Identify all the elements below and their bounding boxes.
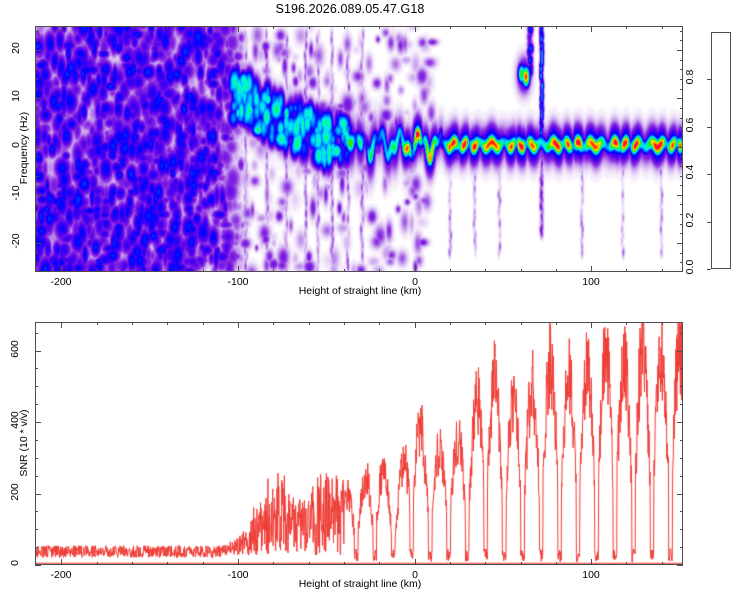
axis-tick: [35, 494, 41, 495]
axis-tick: [203, 269, 204, 272]
axis-tick: [677, 98, 683, 99]
axis-tick: [677, 565, 683, 566]
axis-tick: [680, 185, 683, 186]
axis-tick: [556, 562, 557, 565]
axis-tick: [61, 559, 62, 565]
axis-tick: [35, 127, 38, 128]
axis-tick: [35, 195, 41, 196]
colorbar: [711, 32, 731, 269]
axis-tick: [662, 562, 663, 565]
axis-tick: [485, 322, 486, 325]
axis-tick: [35, 440, 38, 441]
axis-tick: [680, 40, 683, 41]
axis-tick: [35, 233, 38, 234]
axis-tick: [680, 404, 683, 405]
axis-tick: [35, 118, 38, 119]
axis-tick: [132, 269, 133, 272]
axis-tick: [521, 269, 522, 272]
axis-tick: [203, 322, 204, 325]
page-title: S196.2026.089.05.47.G18: [0, 2, 700, 16]
axis-tick: [626, 562, 627, 565]
axis-tick: [35, 224, 38, 225]
axis-tick: [662, 322, 663, 325]
figure-root: S196.2026.089.05.47.G18 Frequency (Hz) H…: [0, 0, 750, 600]
axis-tick: [680, 333, 683, 334]
spectrogram-image: [36, 27, 682, 271]
axis-tick: [132, 562, 133, 565]
axis-tick: [35, 214, 38, 215]
axis-tick: [415, 26, 416, 32]
axis-tick: [680, 108, 683, 109]
axis-tick: [680, 458, 683, 459]
axis-tick: [309, 269, 310, 272]
axis-tick: [680, 253, 683, 254]
axis-tick: [97, 26, 98, 29]
axis-tick: [485, 26, 486, 29]
axis-tick-label: 600: [9, 335, 21, 363]
axis-tick-label: 20: [10, 35, 22, 61]
axis-tick-label: 0: [393, 276, 437, 288]
axis-tick: [485, 562, 486, 565]
axis-tick: [35, 565, 41, 566]
axis-tick: [415, 266, 416, 272]
axis-tick: [61, 266, 62, 272]
axis-tick: [707, 127, 711, 128]
axis-tick: [35, 458, 38, 459]
axis-tick: [680, 440, 683, 441]
axis-tick: [521, 562, 522, 565]
axis-tick: [35, 98, 41, 99]
axis-tick: [35, 166, 38, 167]
axis-tick-label: 0.2: [684, 205, 696, 235]
axis-tick: [677, 494, 683, 495]
axis-tick: [680, 79, 683, 80]
axis-tick: [35, 69, 38, 70]
axis-tick: [680, 224, 683, 225]
axis-tick: [450, 269, 451, 272]
axis-tick: [35, 79, 38, 80]
axis-tick: [415, 322, 416, 328]
axis-tick: [680, 118, 683, 119]
axis-tick-label: 10: [10, 83, 22, 109]
axis-tick: [344, 322, 345, 325]
axis-tick: [273, 269, 274, 272]
axis-tick: [203, 26, 204, 29]
axis-tick: [521, 26, 522, 29]
axis-tick: [680, 547, 683, 548]
axis-tick: [35, 204, 38, 205]
axis-tick: [680, 60, 683, 61]
axis-tick: [97, 562, 98, 565]
axis-tick: [521, 322, 522, 325]
axis-tick-label: -20: [10, 228, 22, 254]
axis-tick: [35, 253, 38, 254]
axis-tick: [680, 156, 683, 157]
axis-tick: [35, 351, 41, 352]
axis-tick: [309, 322, 310, 325]
axis-tick: [35, 333, 38, 334]
axis-tick: [344, 562, 345, 565]
axis-tick: [626, 269, 627, 272]
axis-tick-label: 0: [10, 132, 22, 158]
axis-tick: [450, 562, 451, 565]
axis-tick: [680, 166, 683, 167]
axis-tick: [35, 368, 38, 369]
axis-tick: [35, 404, 38, 405]
axis-tick: [344, 269, 345, 272]
axis-tick: [450, 26, 451, 29]
axis-tick: [309, 562, 310, 565]
axis-tick: [35, 137, 38, 138]
axis-tick: [591, 26, 592, 32]
axis-tick: [677, 422, 683, 423]
axis-tick: [556, 26, 557, 29]
axis-tick: [35, 147, 41, 148]
axis-tick: [556, 322, 557, 325]
axis-tick-label: 0.8: [684, 62, 696, 92]
axis-tick: [591, 266, 592, 272]
axis-tick: [680, 511, 683, 512]
axis-tick: [662, 26, 663, 29]
axis-tick-label: 100: [569, 276, 613, 288]
axis-tick: [450, 322, 451, 325]
axis-tick-label: 200: [9, 478, 21, 506]
axis-tick: [707, 269, 711, 270]
axis-tick: [132, 322, 133, 325]
axis-tick: [167, 269, 168, 272]
axis-tick: [35, 31, 38, 32]
colorbar-gradient: [712, 33, 730, 268]
axis-tick: [35, 60, 38, 61]
axis-tick: [485, 269, 486, 272]
axis-tick-label: 100: [569, 569, 613, 581]
axis-tick: [379, 562, 380, 565]
axis-tick: [35, 176, 38, 177]
axis-tick: [35, 386, 38, 387]
axis-tick: [97, 322, 98, 325]
axis-tick: [238, 26, 239, 32]
axis-tick: [677, 351, 683, 352]
axis-tick-label: -100: [216, 569, 260, 581]
axis-tick: [309, 26, 310, 29]
axis-tick: [556, 269, 557, 272]
axis-tick-label: -100: [216, 276, 260, 288]
axis-tick-label: 0: [393, 569, 437, 581]
axis-tick-label: 0.4: [684, 157, 696, 187]
axis-tick: [680, 368, 683, 369]
axis-tick: [167, 322, 168, 325]
axis-tick-label: 400: [9, 406, 21, 434]
axis-tick: [379, 26, 380, 29]
axis-tick: [97, 269, 98, 272]
axis-tick: [35, 108, 38, 109]
axis-tick: [415, 559, 416, 565]
axis-tick: [591, 559, 592, 565]
axis-tick: [273, 26, 274, 29]
axis-tick: [35, 262, 38, 263]
axis-tick: [677, 195, 683, 196]
axis-tick: [680, 31, 683, 32]
axis-tick: [591, 322, 592, 328]
axis-tick: [680, 69, 683, 70]
axis-tick: [35, 156, 38, 157]
axis-tick-label: 0: [9, 549, 21, 577]
axis-tick: [35, 50, 41, 51]
axis-tick: [680, 214, 683, 215]
axis-tick-label: -200: [39, 569, 83, 581]
axis-tick: [238, 559, 239, 565]
axis-tick: [680, 233, 683, 234]
axis-tick: [680, 176, 683, 177]
snr-axes: [35, 322, 683, 565]
axis-tick: [35, 89, 38, 90]
axis-tick: [344, 26, 345, 29]
axis-tick: [680, 204, 683, 205]
axis-tick-label: 0.0: [684, 252, 696, 282]
axis-tick: [680, 262, 683, 263]
axis-tick: [35, 243, 41, 244]
axis-tick: [707, 222, 711, 223]
snr-line-series: [36, 323, 682, 564]
axis-tick-label: -10: [10, 180, 22, 206]
axis-tick: [35, 476, 38, 477]
axis-tick: [273, 322, 274, 325]
axis-tick: [167, 562, 168, 565]
axis-tick: [238, 266, 239, 272]
axis-tick: [707, 174, 711, 175]
axis-tick: [35, 185, 38, 186]
axis-tick: [35, 511, 38, 512]
axis-tick: [61, 322, 62, 328]
axis-tick: [61, 26, 62, 32]
spectrogram-axes: [35, 26, 683, 272]
axis-tick: [203, 562, 204, 565]
axis-tick: [626, 322, 627, 325]
axis-tick: [677, 50, 683, 51]
axis-tick: [680, 476, 683, 477]
axis-tick: [379, 322, 380, 325]
axis-tick: [379, 269, 380, 272]
axis-tick: [35, 529, 38, 530]
axis-tick: [680, 127, 683, 128]
axis-tick: [707, 79, 711, 80]
axis-tick: [238, 322, 239, 328]
axis-tick: [273, 562, 274, 565]
axis-tick: [680, 529, 683, 530]
axis-tick-label: 0.6: [684, 110, 696, 140]
axis-tick: [35, 40, 38, 41]
axis-tick: [680, 89, 683, 90]
axis-tick: [680, 386, 683, 387]
axis-tick: [677, 147, 683, 148]
axis-tick: [35, 422, 41, 423]
axis-tick: [626, 26, 627, 29]
axis-tick: [132, 26, 133, 29]
axis-tick: [662, 269, 663, 272]
axis-tick: [680, 137, 683, 138]
axis-tick: [677, 243, 683, 244]
axis-tick: [35, 547, 38, 548]
axis-tick-label: -200: [39, 276, 83, 288]
axis-tick: [167, 26, 168, 29]
